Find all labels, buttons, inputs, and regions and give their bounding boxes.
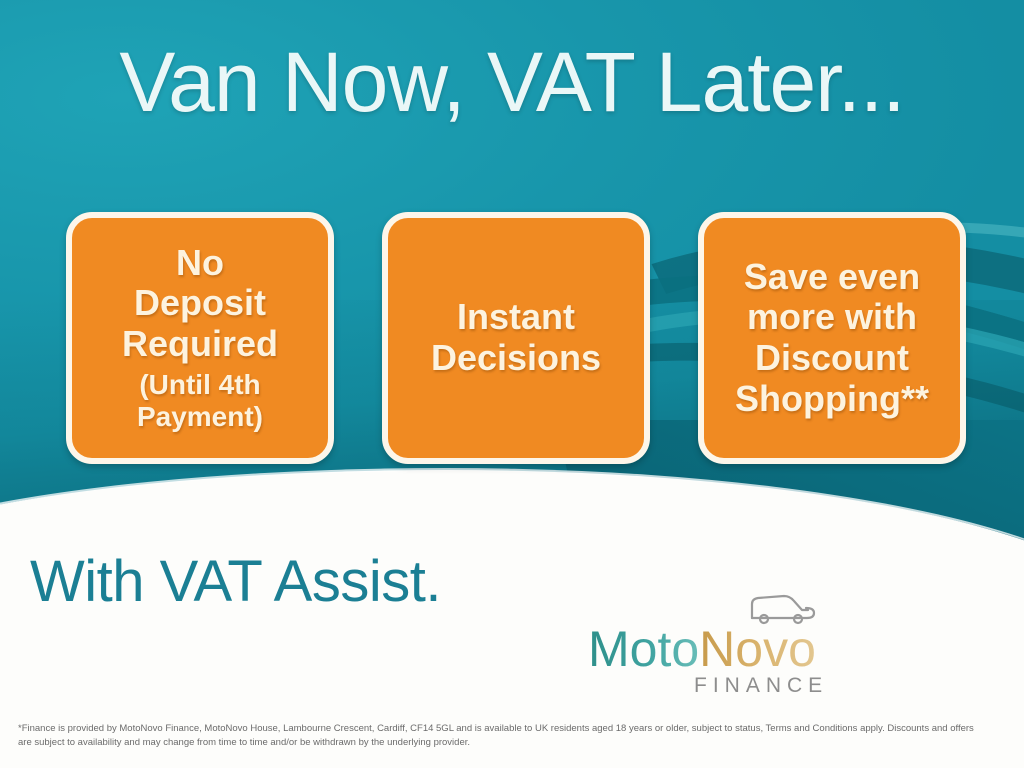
feature-box-instant-decisions[interactable]: InstantDecisions: [382, 212, 650, 464]
feature-box-no-deposit[interactable]: NoDepositRequired (Until 4thPayment): [66, 212, 334, 464]
feature-box-main-text: InstantDecisions: [431, 297, 601, 378]
feature-box-group: NoDepositRequired (Until 4thPayment) Ins…: [66, 212, 966, 464]
advertisement-banner: Van Now, VAT Later... NoDepositRequired …: [0, 0, 1024, 768]
logo-wordmark: MotoNovo: [588, 624, 816, 674]
feature-box-main-text: Save evenmore withDiscountShopping**: [735, 257, 929, 420]
logo-moto-text: Moto: [588, 621, 699, 677]
headline-text: Van Now, VAT Later...: [0, 40, 1024, 124]
feature-box-sub-text: (Until 4thPayment): [137, 369, 263, 433]
motonovo-logo: MotoNovo FINANCE: [588, 588, 828, 700]
logo-finance-text: FINANCE: [694, 674, 828, 698]
tagline-text: With VAT Assist.: [30, 548, 441, 615]
disclaimer-text: *Finance is provided by MotoNovo Finance…: [18, 722, 978, 751]
feature-box-discount-shopping[interactable]: Save evenmore withDiscountShopping**: [698, 212, 966, 464]
feature-box-main-text: NoDepositRequired: [122, 243, 278, 365]
logo-novo-text: Novo: [699, 621, 816, 677]
